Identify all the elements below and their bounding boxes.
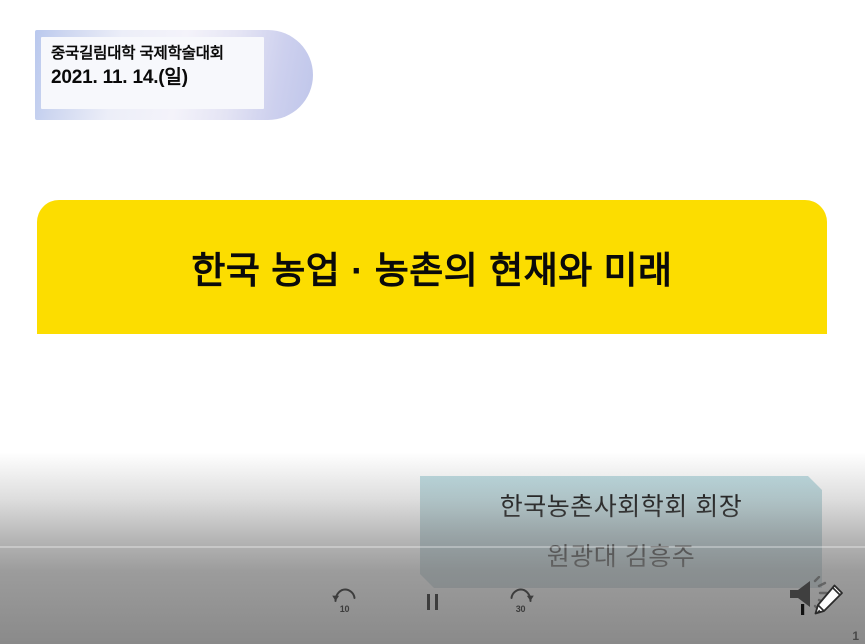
slide-title-band: 한국 농업 · 농촌의 현재와 미래 bbox=[37, 200, 827, 334]
rewind-arc-icon bbox=[328, 587, 362, 607]
pause-icon bbox=[427, 594, 438, 610]
conference-badge: 중국길림대학 국제학술대회 2021. 11. 14.(일) bbox=[35, 30, 313, 120]
pause-bar-left bbox=[427, 594, 430, 610]
pause-bar-right bbox=[435, 594, 438, 610]
conference-badge-inner: 중국길림대학 국제학술대회 2021. 11. 14.(일) bbox=[41, 37, 264, 109]
pause-button[interactable] bbox=[416, 587, 450, 617]
rewind-10-button[interactable]: 10 bbox=[328, 587, 362, 617]
speaker-volume-icon bbox=[786, 576, 830, 616]
page-number: 1 bbox=[852, 630, 859, 642]
volume-button[interactable] bbox=[786, 576, 830, 616]
speaker-info-panel: 한국농촌사회학회 회장 원광대 김흥주 bbox=[420, 476, 822, 588]
conference-name: 중국길림대학 국제학술대회 bbox=[51, 43, 256, 64]
forward-30-button[interactable]: 30 bbox=[504, 587, 538, 617]
speaker-affiliation: 한국농촌사회학회 회장 bbox=[500, 487, 742, 523]
seek-bar[interactable] bbox=[0, 546, 865, 548]
speaker-name: 원광대 김흥주 bbox=[547, 537, 695, 573]
forward-arc-icon bbox=[504, 587, 538, 607]
slide-title: 한국 농업 · 농촌의 현재와 미래 bbox=[191, 240, 672, 294]
video-player: 중국길림대학 국제학술대회 2021. 11. 14.(일) 한국 농업 · 농… bbox=[0, 0, 865, 644]
transport-controls: 10 30 bbox=[0, 584, 865, 620]
conference-date: 2021. 11. 14.(일) bbox=[51, 65, 256, 91]
rewind-10-icon: 10 bbox=[328, 587, 362, 617]
forward-30-icon: 30 bbox=[504, 587, 538, 617]
